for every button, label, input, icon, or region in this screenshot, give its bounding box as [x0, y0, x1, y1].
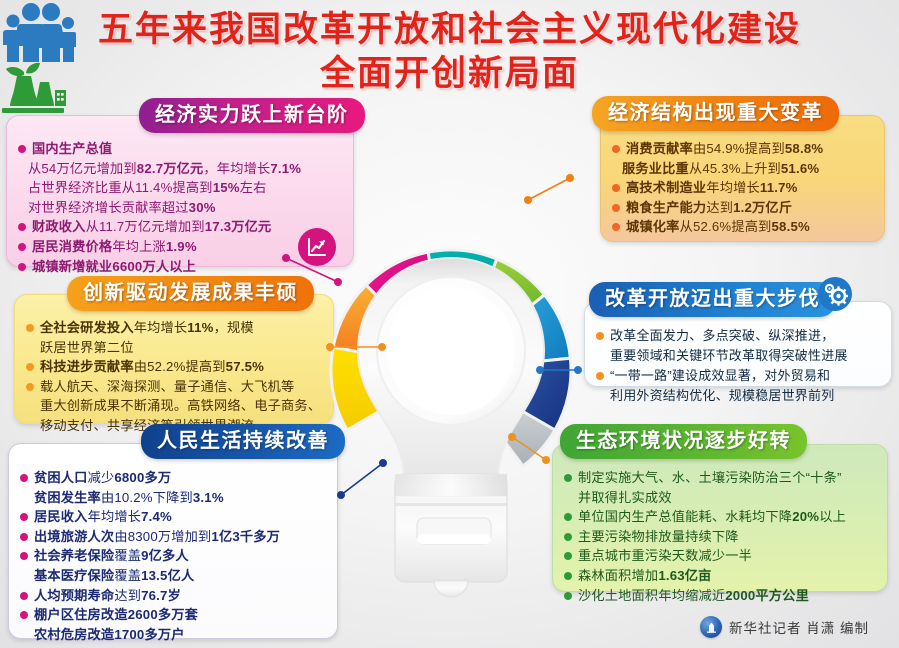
item-key: 13.5亿人 [141, 568, 194, 583]
item-text: ，规模 [214, 320, 254, 335]
item-text: 年均增长 [88, 509, 142, 524]
list-item: 粮食生产能力达到1.2万亿斤 [611, 199, 874, 217]
item-text: 年均增长 [706, 180, 760, 195]
item-lead: 居民消费价格 [32, 239, 112, 254]
item-key: 1700多万户 [114, 627, 184, 642]
item-text: 从11.7万亿元增加到 [86, 219, 205, 234]
item-key: 51.6% [781, 161, 819, 176]
list-item: 载人航天、深海探测、量子通信、大飞机等 [25, 378, 323, 396]
item-text: 减少 [88, 470, 115, 485]
list-item: 农村危房改造1700多万户 [19, 626, 327, 644]
item-text: 从54万亿元增加到 [28, 161, 137, 176]
item-key: 1亿3千多万 [211, 529, 280, 544]
item-lead: 消费贡献率 [626, 141, 693, 156]
item-text: 占世界经济比重从11.4%提高到 [28, 180, 213, 195]
item-text: 主要污染物排放量持续下降 [578, 529, 739, 544]
item-text: 由52.2%提高到 [134, 359, 226, 374]
panel-body-people-livelihood: 贫困人口减少6800多万 贫困发生率由10.2%下降到3.1% 居民收入年均增长… [8, 443, 338, 639]
panel-body-economic-structure: 消费贡献率由54.9%提高到58.8% 服务业比重从45.3%上升到51.6% … [600, 115, 885, 242]
panel-title-reform-opening: 改革开放迈出重大步伐 [589, 282, 836, 317]
lightbulb-graphic [322, 222, 580, 622]
item-text: 左右 [240, 180, 267, 195]
item-lead: 财政收入 [32, 219, 86, 234]
title-line-1: 五年来我国改革开放和社会主义现代化建设 [0, 8, 899, 52]
item-lead: 高技术制造业 [626, 180, 706, 195]
list-item: 城镇新增就业6600万人以上 [17, 258, 343, 276]
item-key: 76.7岁 [141, 588, 181, 603]
gears-icon [818, 277, 852, 311]
item-key: 20% [792, 509, 819, 524]
list-item: “一带一路”建设成效显著，对外贸易和 [595, 367, 881, 385]
item-text: 从52.6%提高到 [680, 219, 772, 234]
item-text: ，年均增长 [203, 161, 270, 176]
xinhua-logo-icon [700, 616, 722, 638]
item-lead: 国内生产总值 [32, 141, 112, 156]
panel-title-people-livelihood: 人民生活持续改善 [141, 424, 345, 459]
item-text: 单位国内生产总值能耗、水耗均下降 [578, 509, 792, 524]
item-key: 1.9% [166, 239, 197, 254]
item-key: 82.7万亿元 [137, 161, 204, 176]
item-text: 利用外资结构优化、规模稳居世界前列 [610, 388, 834, 403]
item-key: 17.3万亿元 [205, 219, 272, 234]
item-key: 57.5% [226, 359, 264, 374]
item-lead: 贫困人口 [34, 470, 88, 485]
list-item: 主要污染物排放量持续下降 [563, 528, 877, 546]
item-lead: 农村危房改造 [34, 627, 114, 642]
item-text: 改革全面发力、多点突破、纵深推进， [610, 328, 834, 343]
item-text: 以上 [819, 509, 846, 524]
list-item: 对世界经济增长贡献率超过30% [17, 199, 343, 217]
list-item: 重点城市重污染天数减少一半 [563, 547, 877, 565]
item-text: 重要领域和关键环节改革取得突破性进展 [610, 348, 848, 363]
list-item: 单位国内生产总值能耗、水耗均下降20%以上 [563, 508, 877, 526]
panel-title-economic-structure: 经济结构出现重大变革 [592, 96, 839, 131]
panel-title-innovation-driven: 创新驱动发展成果丰硕 [67, 276, 314, 311]
item-key: 6600万人以上 [112, 259, 196, 274]
list-item: 森林面积增加1.63亿亩 [563, 567, 877, 585]
item-lead: 城镇新增就业 [32, 259, 112, 274]
list-item: 科技进步贡献率由52.2%提高到57.5% [25, 358, 323, 376]
item-lead: 科技进步贡献率 [40, 359, 134, 374]
list-people-livelihood: 贫困人口减少6800多万 贫困发生率由10.2%下降到3.1% 居民收入年均增长… [19, 469, 327, 643]
item-key: 58.5% [772, 219, 810, 234]
list-item: 重大创新成果不断涌现。高铁网络、电子商务、 [25, 397, 323, 415]
item-text: 跃居世界第二位 [40, 340, 134, 355]
item-text: “一带一路”建设成效显著，对外贸易和 [610, 368, 830, 383]
item-text: 重大创新成果不断涌现。高铁网络、电子商务、 [40, 398, 321, 413]
list-item: 居民收入年均增长7.4% [19, 508, 327, 526]
item-key: 30% [189, 200, 216, 215]
item-lead: 居民收入 [34, 509, 88, 524]
item-lead: 粮食生产能力 [626, 200, 706, 215]
footer-credit: 新华社记者 肖潇 编制 [700, 616, 869, 638]
list-item: 财政收入从11.7万亿元增加到17.3万亿元 [17, 218, 343, 236]
list-item: 出境旅游人次由8300万增加到1亿3千多万 [19, 528, 327, 546]
item-key: 6800多万 [114, 470, 171, 485]
panel-title-ecological-environment: 生态环境状况逐步好转 [560, 424, 807, 459]
credit-text: 新华社记者 肖潇 编制 [729, 617, 869, 637]
item-text: 达到 [706, 200, 733, 215]
list-item: 城镇化率从52.6%提高到58.5% [611, 218, 874, 236]
list-item: 全社会研发投入年均增长11%，规模 [25, 319, 323, 337]
item-lead: 棚户区住房改造 [34, 607, 128, 622]
list-item: 消费贡献率由54.9%提高到58.8% [611, 140, 874, 158]
item-key: 7.4% [141, 509, 172, 524]
item-key: 15% [213, 180, 240, 195]
item-text: 年均增长 [134, 320, 188, 335]
item-key: 9亿多人 [141, 548, 189, 563]
item-lead: 基本医疗保险 [34, 568, 114, 583]
item-text: 覆盖 [114, 568, 141, 583]
list-item: 从54万亿元增加到82.7万亿元，年均增长7.1% [17, 160, 343, 178]
list-item: 棚户区住房改造2600多万套 [19, 606, 327, 624]
item-text: 从45.3%上升到 [689, 161, 781, 176]
item-key: 2000平方公里 [725, 588, 809, 603]
item-key: 58.8% [785, 141, 823, 156]
item-lead: 全社会研发投入 [40, 320, 134, 335]
trend-chart-icon [298, 228, 336, 266]
list-reform-opening: 改革全面发力、多点突破、纵深推进， 重要领域和关键环节改革取得突破性进展 “一带… [595, 327, 881, 405]
title-line-2: 全面开创新局面 [0, 52, 899, 96]
list-item: 改革全面发力、多点突破、纵深推进， [595, 327, 881, 345]
list-item: 跃居世界第二位 [25, 339, 323, 357]
item-text: 并取得扎实成效 [578, 490, 672, 505]
panel-body-ecological-environment: 制定实施大气、水、土壤污染防治三个“十条” 并取得扎实成效 单位国内生产总值能耗… [552, 444, 888, 592]
item-text: 由54.9%提高到 [693, 141, 785, 156]
item-text: 年均上涨 [112, 239, 166, 254]
item-key: 1.63亿亩 [658, 568, 711, 583]
panel-title-economic-strength: 经济实力跃上新台阶 [139, 98, 365, 133]
list-item: 居民消费价格年均上涨1.9% [17, 238, 343, 256]
item-text: 沙化土地面积年均缩减近 [578, 588, 725, 603]
item-text: 森林面积增加 [578, 568, 658, 583]
panel-body-innovation-driven: 全社会研发投入年均增长11%，规模 跃居世界第二位 科技进步贡献率由52.2%提… [14, 294, 334, 424]
item-lead: 城镇化率 [626, 219, 680, 234]
list-item: 利用外资结构优化、规模稳居世界前列 [595, 387, 881, 405]
item-text: 由10.2%下降到 [101, 490, 193, 505]
item-lead: 社会养老保险 [34, 548, 114, 563]
list-item: 贫困发生率由10.2%下降到3.1% [19, 489, 327, 507]
list-item: 占世界经济比重从11.4%提高到15%左右 [17, 179, 343, 197]
item-text: 对世界经济增长贡献率超过 [28, 200, 189, 215]
list-item: 国内生产总值 [17, 140, 343, 158]
list-item: 基本医疗保险覆盖13.5亿人 [19, 567, 327, 585]
item-key: 3.1% [193, 490, 224, 505]
list-economic-structure: 消费贡献率由54.9%提高到58.8% 服务业比重从45.3%上升到51.6% … [611, 140, 874, 236]
list-item: 制定实施大气、水、土壤污染防治三个“十条” [563, 469, 877, 487]
item-lead: 服务业比重 [622, 161, 689, 176]
list-item: 社会养老保险覆盖9亿多人 [19, 547, 327, 565]
item-key: 11% [187, 320, 213, 335]
list-item: 沙化土地面积年均缩减近2000平方公里 [563, 587, 877, 605]
list-item: 服务业比重从45.3%上升到51.6% [611, 160, 874, 178]
item-lead: 出境旅游人次 [34, 529, 114, 544]
item-key: 1.2万亿斤 [733, 200, 792, 215]
list-item: 贫困人口减少6800多万 [19, 469, 327, 487]
item-text: 制定实施大气、水、土壤污染防治三个“十条” [578, 470, 842, 485]
item-key: 7.1% [270, 161, 301, 176]
list-item: 并取得扎实成效 [563, 489, 877, 507]
page-title: 五年来我国改革开放和社会主义现代化建设 全面开创新局面 [0, 8, 899, 96]
item-key: 11.7% [760, 180, 798, 195]
item-text: 重点城市重污染天数减少一半 [578, 548, 752, 563]
list-innovation-driven: 全社会研发投入年均增长11%，规模 跃居世界第二位 科技进步贡献率由52.2%提… [25, 319, 323, 435]
item-text: 覆盖 [114, 548, 141, 563]
item-text: 载人航天、深海探测、量子通信、大飞机等 [40, 379, 294, 394]
item-text: 由8300万增加到 [114, 529, 211, 544]
list-item: 人均预期寿命达到76.7岁 [19, 587, 327, 605]
item-lead: 人均预期寿命 [34, 588, 114, 603]
list-item: 重要领域和关键环节改革取得突破性进展 [595, 347, 881, 365]
list-economic-strength: 国内生产总值 从54万亿元增加到82.7万亿元，年均增长7.1% 占世界经济比重… [17, 140, 343, 275]
item-lead: 贫困发生率 [34, 490, 101, 505]
list-ecological-environment: 制定实施大气、水、土壤污染防治三个“十条” 并取得扎实成效 单位国内生产总值能耗… [563, 469, 877, 604]
item-text: 达到 [114, 588, 141, 603]
list-item: 高技术制造业年均增长11.7% [611, 179, 874, 197]
item-key: 2600多万套 [128, 607, 198, 622]
